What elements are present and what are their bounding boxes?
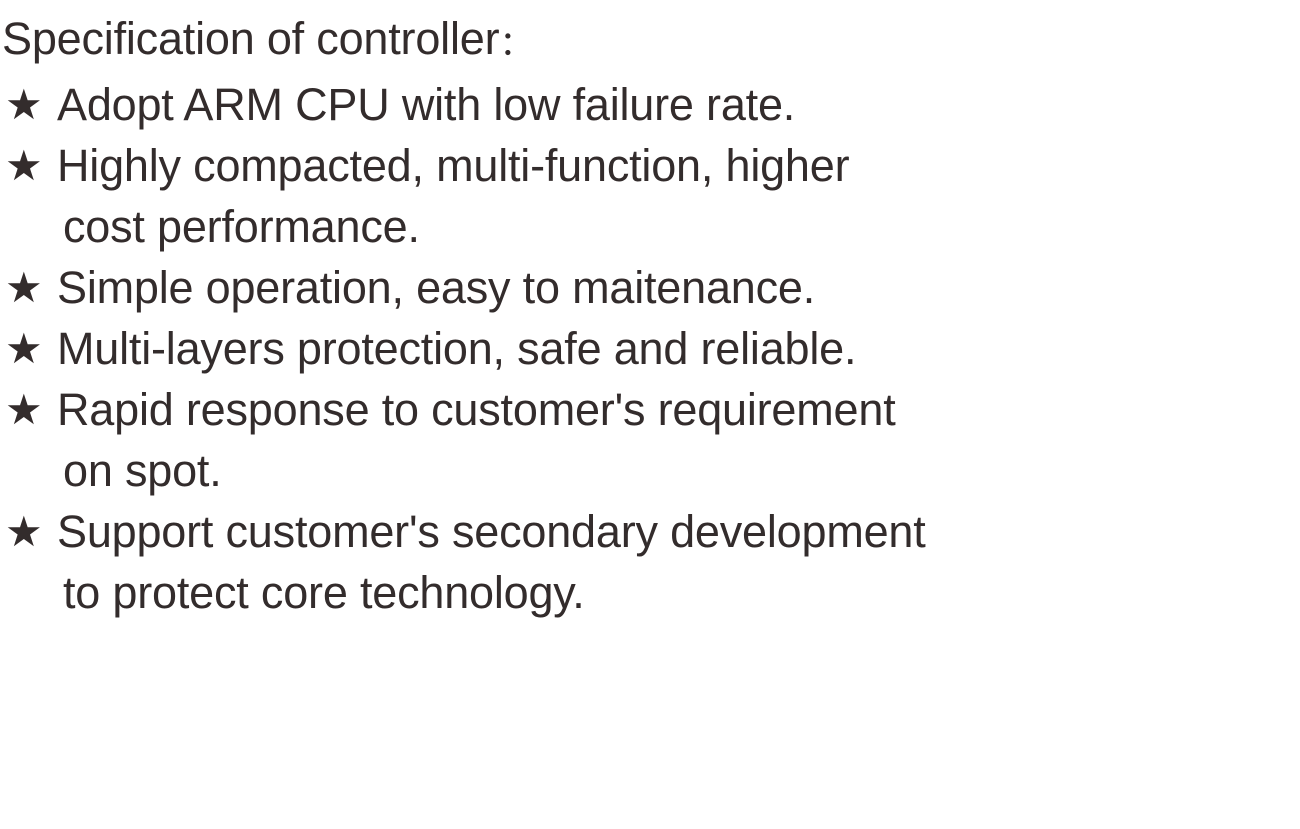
- list-item-line-continued: to protect core technology.: [57, 562, 1292, 623]
- title-colon: ：: [499, 25, 533, 63]
- specification-content: Specification of controller： ★ Adopt ARM…: [2, 8, 1292, 623]
- list-item: ★ Adopt ARM CPU with low failure rate.: [2, 74, 1292, 135]
- page-title-text: Specification of controller: [2, 13, 499, 64]
- specification-slide: Specification of controller： ★ Adopt ARM…: [0, 0, 1300, 829]
- star-bullet-icon: ★: [5, 501, 51, 562]
- star-bullet-icon: ★: [5, 135, 51, 196]
- star-bullet-icon: ★: [5, 379, 51, 440]
- list-item-line: Multi-layers protection, safe and reliab…: [57, 318, 1292, 379]
- page-title: Specification of controller：: [2, 8, 1292, 74]
- list-item: ★ Multi-layers protection, safe and reli…: [2, 318, 1292, 379]
- star-bullet-icon: ★: [5, 257, 51, 318]
- list-item-line: Highly compacted, multi-function, higher: [57, 135, 1292, 196]
- list-item: ★ Support customer's secondary developme…: [2, 501, 1292, 623]
- list-item-line: Simple operation, easy to maitenance.: [57, 257, 1292, 318]
- list-item-line: Rapid response to customer's requirement: [57, 379, 1292, 440]
- specification-list: ★ Adopt ARM CPU with low failure rate. ★…: [2, 74, 1292, 623]
- list-item-line: Support customer's secondary development: [57, 501, 1292, 562]
- list-item: ★ Simple operation, easy to maitenance.: [2, 257, 1292, 318]
- list-item-line-continued: on spot.: [57, 440, 1292, 501]
- list-item: ★ Highly compacted, multi-function, high…: [2, 135, 1292, 257]
- star-bullet-icon: ★: [5, 318, 51, 379]
- list-item: ★ Rapid response to customer's requireme…: [2, 379, 1292, 501]
- list-item-line: Adopt ARM CPU with low failure rate.: [57, 74, 1292, 135]
- list-item-line-continued: cost performance.: [57, 196, 1292, 257]
- star-bullet-icon: ★: [5, 74, 51, 135]
